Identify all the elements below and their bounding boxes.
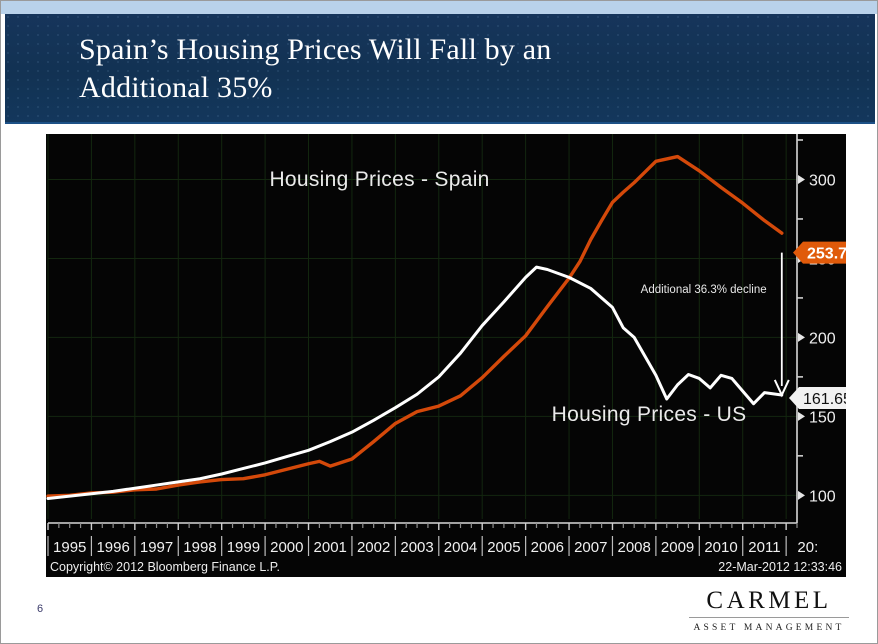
slide-root: Spain’s Housing Prices Will Fall by an A… — [0, 0, 878, 644]
company-logo: CARMEL ASSET MANAGEMENT — [689, 587, 849, 634]
chart-x-tick-label: 2003 — [400, 539, 433, 556]
value-badge-spain-label: 253.70 — [807, 246, 846, 263]
chart-background — [46, 134, 846, 577]
chart-x-tick-label: 1997 — [140, 539, 173, 556]
chart-x-tick-label: 2004 — [444, 539, 477, 556]
page-number: 6 — [37, 603, 43, 615]
chart-x-tick-label: 2001 — [314, 539, 347, 556]
chart-x-tick-label: 1999 — [227, 539, 260, 556]
chart-x-tick-label: 1996 — [96, 539, 129, 556]
logo-tagline: ASSET MANAGEMENT — [689, 622, 849, 634]
chart-x-tick-label: 2010 — [704, 539, 737, 556]
series-label-us: Housing Prices - US — [552, 403, 747, 426]
top-accent-strip — [1, 1, 878, 14]
value-badge-us-label: 161.65 — [803, 391, 846, 408]
chart-y-tick-label: 100 — [809, 488, 836, 505]
logo-divider — [689, 617, 849, 618]
logo-wordmark: CARMEL — [689, 587, 849, 615]
chart-x-tick-label: 2005 — [487, 539, 520, 556]
housing-prices-chart: Housing Prices - SpainHousing Prices - U… — [46, 134, 846, 577]
chart-x-tick-label: 2008 — [617, 539, 650, 556]
chart-y-tick-label: 150 — [809, 409, 836, 426]
chart-x-tick-label: 2009 — [661, 539, 694, 556]
chart-y-tick-label: 300 — [809, 172, 836, 189]
value-badge-us: 161.65 — [789, 387, 846, 409]
chart-y-tick-label: 200 — [809, 330, 836, 347]
chart-x-tick-label: 2011 — [748, 539, 780, 556]
chart-timestamp: 22-Mar-2012 12:33:46 — [718, 560, 842, 574]
series-label-spain: Housing Prices - Spain — [269, 168, 489, 191]
chart-x-tick-label: 2002 — [357, 539, 390, 556]
chart-x-tick-label: 2007 — [574, 539, 607, 556]
annotation-decline-text: Additional 36.3% decline — [641, 284, 767, 296]
chart-x-tick-label: 20: — [797, 539, 818, 556]
chart-x-tick-label: 2006 — [531, 539, 564, 556]
bloomberg-chart-panel: Housing Prices - SpainHousing Prices - U… — [46, 134, 846, 577]
chart-x-tick-label: 1995 — [53, 539, 86, 556]
chart-x-tick-label: 1998 — [183, 539, 216, 556]
title-banner: Spain’s Housing Prices Will Fall by an A… — [5, 14, 875, 124]
chart-x-tick-label: 2000 — [270, 539, 303, 556]
value-badge-spain: 253.70 — [793, 242, 846, 264]
chart-copyright: Copyright© 2012 Bloomberg Finance L.P. — [50, 560, 280, 574]
page-title: Spain’s Housing Prices Will Fall by an A… — [79, 31, 779, 107]
